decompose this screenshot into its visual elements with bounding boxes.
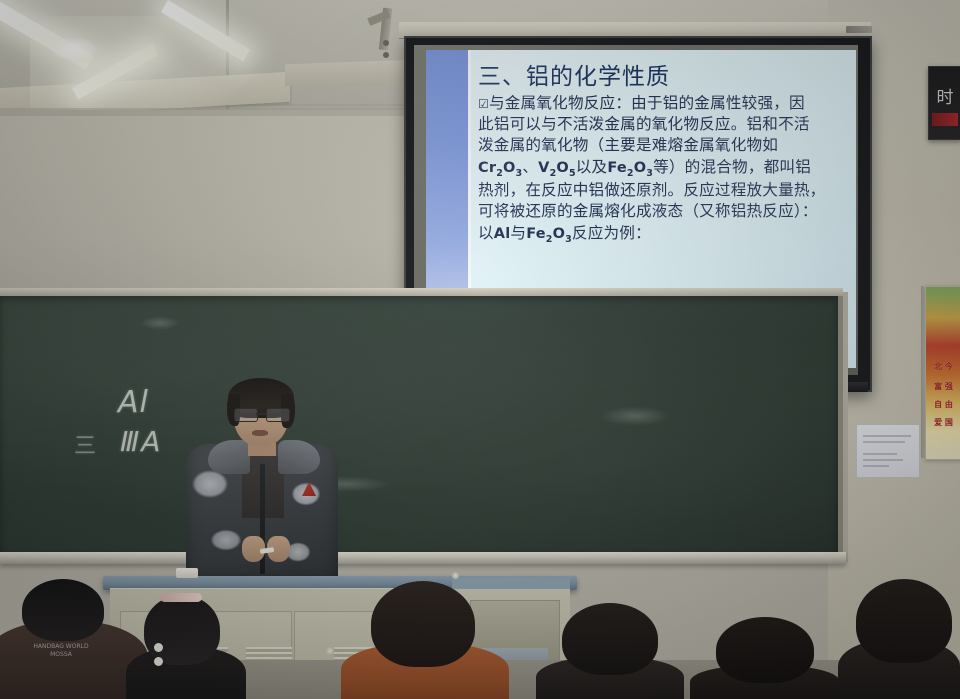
poster-line-3: 自 由	[926, 401, 960, 409]
ceiling-beam-secondary	[285, 60, 415, 87]
formula-cr2o3: Cr2O3	[478, 160, 522, 176]
chalk-text-iii-a: ⅢA	[120, 425, 162, 458]
notice-text-line	[863, 465, 889, 467]
mount-screw-icon	[383, 52, 389, 58]
student-silhouette	[690, 617, 840, 699]
chalk-ledge	[0, 552, 846, 564]
student-hair	[144, 595, 220, 665]
time-sign-label: 时	[929, 83, 960, 108]
classroom-photo: 时 三、铝的化学性质 ☑与金属氧化物反应：由于铝的金属性较强，因 此铝可以与不活…	[0, 0, 960, 699]
podium-door-knob[interactable]	[326, 647, 334, 655]
example-suffix: 反应为例：	[572, 224, 651, 242]
formula-separator: 、	[522, 158, 538, 176]
student-hair	[856, 579, 952, 663]
slide-line-text: 与金属氧化物反应：由于铝的金属性较强，因	[489, 94, 805, 112]
slide-line-2: 此铝可以与不活泼金属的氧化物反应。铝和不活	[478, 114, 850, 135]
upper-wall-left	[0, 110, 420, 295]
presenter-hood-left	[208, 440, 250, 474]
slide-content: 三、铝的化学性质 ☑与金属氧化物反应：由于铝的金属性较强，因 此铝可以与不活泼金…	[478, 60, 850, 246]
chalk-text-al: Al	[118, 385, 149, 420]
slide-formula-line: Cr2O3、V2O5以及Fe2O3等）的混合物，都叫铝	[478, 157, 850, 181]
student-hair	[716, 617, 814, 683]
glasses-lens-left	[234, 408, 258, 422]
screen-brand-logo	[846, 26, 872, 33]
glasses-lens-right	[266, 408, 290, 422]
formula-al: Al	[494, 226, 511, 242]
student-hair	[22, 579, 104, 641]
chalk-box	[176, 568, 198, 578]
ceiling-light-3	[161, 0, 250, 61]
student-silhouette: HANDBAG WORLD MOSSA	[0, 579, 132, 699]
chalk-text-san: 三	[74, 428, 96, 460]
poster-line-1: 北 今	[926, 363, 960, 371]
hair-bead	[154, 657, 163, 666]
garment-print-text: HANDBAG WORLD MOSSA	[26, 643, 96, 658]
chalk-smudge	[600, 406, 670, 426]
poster-line-2: 富 强	[926, 383, 960, 391]
presenter-hands	[242, 536, 290, 564]
student-hair	[562, 603, 658, 675]
notice-text-line	[863, 453, 897, 455]
slide-title: 三、铝的化学性质	[478, 64, 850, 91]
slide-line-5: 热剂，在反应中铝做还原剂。反应过程放大量热，	[478, 180, 850, 201]
podium-latch[interactable]	[452, 572, 459, 579]
notice-text-line	[863, 459, 903, 461]
chalk-smudge	[140, 316, 180, 330]
formula-v2o5: V2O5	[538, 160, 576, 176]
formula-fe2o3-example: Fe2O3	[526, 226, 572, 242]
hair-clip	[160, 593, 202, 602]
time-sign-red-band	[932, 113, 958, 126]
time-sign: 时	[928, 66, 960, 140]
glasses-bridge	[256, 413, 266, 415]
checkbox-icon: ☑	[478, 97, 489, 111]
formula-fe2o3: Fe2O3	[607, 160, 653, 176]
slide-formula-suffix: 等）的混合物，都叫铝	[653, 158, 811, 176]
student-silhouette	[335, 581, 515, 699]
slide-line-3: 泼金属的氧化物（主要是难熔金属氧化物如	[478, 135, 850, 156]
glasses-icon	[234, 408, 290, 420]
presenter-mouth	[252, 430, 268, 436]
student-hair	[371, 581, 475, 667]
slide-bullet-line-1: ☑与金属氧化物反应：由于铝的金属性较强，因	[478, 93, 850, 114]
notice-text-line	[863, 441, 905, 443]
example-prefix: 以	[478, 224, 494, 242]
formula-conjunction: 以及	[576, 158, 608, 176]
wall-notice	[856, 424, 920, 478]
slide-line-6: 可将被还原的金属熔化成液态（又称铝热反应）：	[478, 201, 850, 222]
student-silhouette	[838, 579, 960, 699]
student-silhouette	[126, 591, 246, 699]
hair-bead	[154, 643, 163, 652]
slide-example-line: 以Al与Fe2O3反应为例：	[478, 223, 850, 247]
presenter	[186, 378, 338, 590]
student-silhouette	[534, 603, 686, 699]
poster-line-4: 爱 国	[926, 419, 960, 427]
wall-poster: 北 今 富 强 自 由 爱 国	[925, 286, 960, 460]
mount-screw-icon	[383, 40, 389, 46]
notice-text-line	[863, 435, 911, 437]
light-hotspot	[52, 38, 96, 60]
example-conjunction: 与	[510, 224, 526, 242]
